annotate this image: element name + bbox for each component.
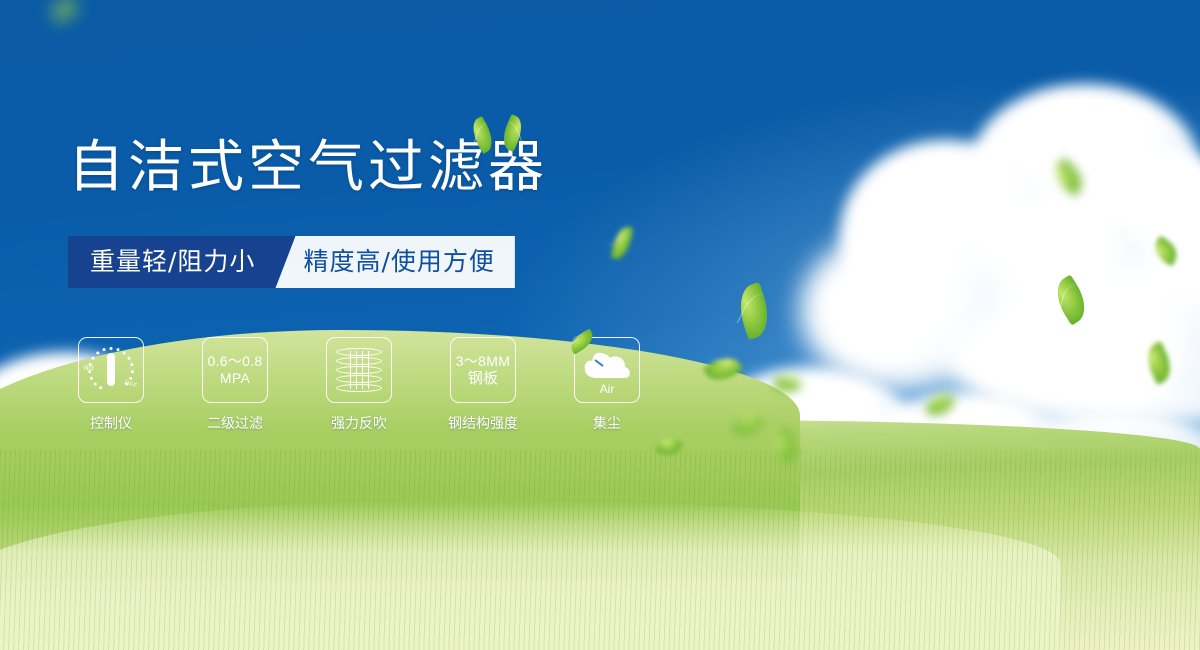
- leaf-icon: [467, 116, 498, 154]
- steel-material: 钢板: [456, 370, 510, 387]
- feature-item-pressure[interactable]: 0.6～0.8 MPA 二级过滤: [202, 337, 268, 433]
- feature-icon-box: [326, 337, 392, 403]
- leaf-icon: [498, 114, 527, 152]
- feature-label: 控制仪: [90, 413, 132, 433]
- feature-item-control-gauge[interactable]: NO OFF 控制仪: [78, 337, 144, 433]
- grass-texture: [0, 450, 1200, 650]
- subtitle-bar: 重量轻/阻力小 精度高/使用方便: [68, 236, 515, 288]
- gauge-dial-icon: NO OFF: [83, 342, 139, 398]
- pressure-text-icon: 0.6～0.8 MPA: [207, 353, 262, 387]
- steel-thickness: 3～8MM: [456, 353, 510, 370]
- feature-icon-box: 3～8MM 钢板: [450, 337, 516, 403]
- feature-icon-box: NO OFF: [78, 337, 144, 403]
- feature-label: 钢结构强度: [448, 413, 518, 433]
- gauge-on-label: NO: [84, 366, 94, 372]
- feature-icon-box: Air: [574, 337, 640, 403]
- pressure-unit: MPA: [207, 370, 262, 387]
- feature-item-dust-collection[interactable]: Air 集尘: [574, 337, 640, 433]
- feature-label: 二级过滤: [207, 413, 263, 433]
- feature-item-steel-strength[interactable]: 3～8MM 钢板 钢结构强度: [450, 337, 516, 433]
- filter-coil-icon: [336, 348, 382, 392]
- pressure-value: 0.6～0.8: [207, 353, 262, 370]
- sprout-leaves-decoration: [470, 112, 534, 158]
- feature-icon-box: 0.6～0.8 MPA: [202, 337, 268, 403]
- steel-plate-text-icon: 3～8MM 钢板: [456, 353, 510, 387]
- feature-icon-row: NO OFF 控制仪 0.6～0.8 MPA 二级过滤: [78, 337, 640, 433]
- feature-item-backblow[interactable]: 强力反吹: [326, 337, 392, 433]
- air-label: Air: [579, 382, 635, 396]
- subtitle-left: 重量轻/阻力小: [68, 236, 295, 288]
- subtitle-right: 精度高/使用方便: [275, 236, 514, 288]
- promo-banner: 自洁式空气过滤器 重量轻/阻力小 精度高/使用方便: [0, 0, 1200, 650]
- air-cloud-icon: Air: [579, 346, 635, 394]
- feature-label: 强力反吹: [331, 413, 387, 433]
- feature-label: 集尘: [593, 413, 621, 433]
- gauge-needle: [107, 353, 115, 386]
